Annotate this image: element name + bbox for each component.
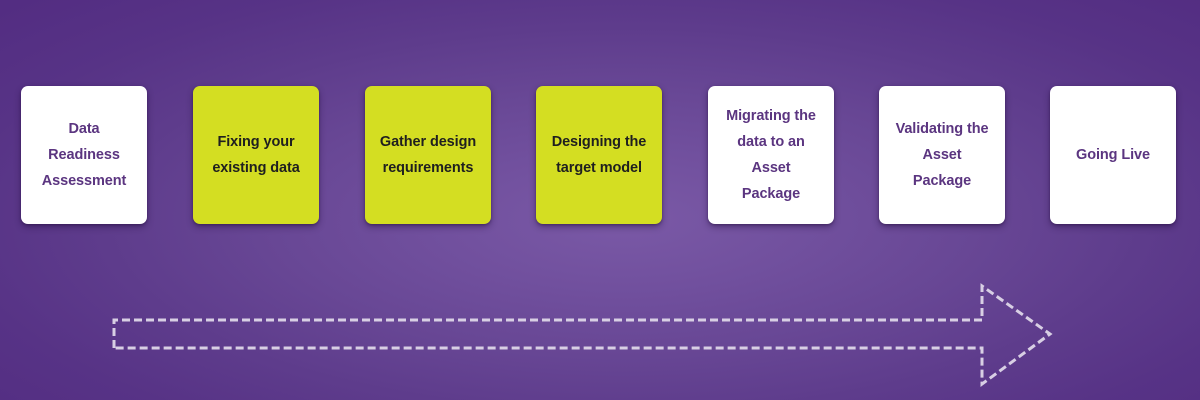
step-card-label: Going Live (1076, 142, 1150, 168)
process-step-row: Data Readiness Assessment Fixing your ex… (0, 86, 1200, 226)
step-card-label: Designing the target model (552, 129, 647, 181)
step-card-1-data-readiness-assessment[interactable]: Data Readiness Assessment (21, 86, 147, 224)
step-card-6-validating-the-asset-package[interactable]: Validating the Asset Package (879, 86, 1005, 224)
step-card-label: Data Readiness Assessment (42, 116, 126, 194)
step-card-label: Validating the Asset Package (896, 116, 989, 194)
step-card-4-designing-the-target-model[interactable]: Designing the target model (536, 86, 662, 224)
step-card-label: Gather design requirements (380, 129, 476, 181)
step-card-label: Fixing your existing data (212, 129, 299, 181)
step-card-3-gather-design-requirements[interactable]: Gather design requirements (365, 86, 491, 224)
step-card-2-fixing-your-existing-data[interactable]: Fixing your existing data (193, 86, 319, 224)
step-card-5-migrating-the-data-to-an-asset-package[interactable]: Migrating the data to an Asset Package (708, 86, 834, 224)
diagram-canvas: Data Readiness Assessment Fixing your ex… (0, 0, 1200, 400)
step-card-7-going-live[interactable]: Going Live (1050, 86, 1176, 224)
step-card-label: Migrating the data to an Asset Package (726, 103, 816, 207)
